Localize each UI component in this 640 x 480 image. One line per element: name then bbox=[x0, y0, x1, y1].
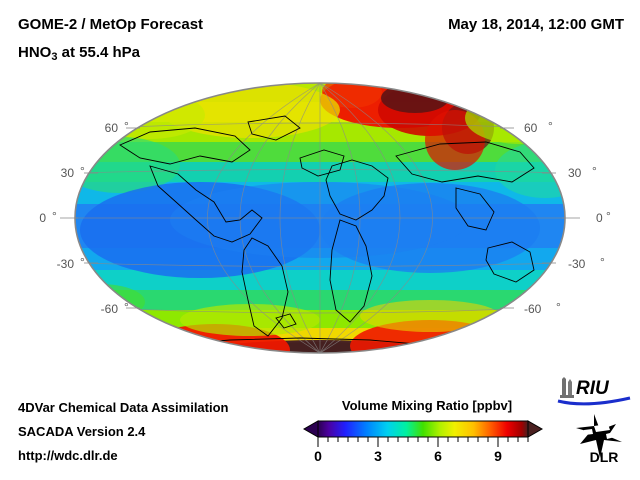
lat-degsym-10: ° bbox=[556, 300, 561, 314]
lat-label-0-r: 0 bbox=[596, 211, 603, 225]
colorbar-gradient bbox=[318, 421, 528, 437]
map-plot: 60 ° 30 ° 0 ° -30 ° -60 ° 60 ° 30 ° 0 ° … bbox=[0, 70, 640, 380]
lat-label-60s-r: -60 bbox=[524, 302, 542, 316]
visualization-page: GOME-2 / MetOp Forecast HNO3 at 55.4 hPa… bbox=[0, 0, 640, 480]
lat-degsym-1: ° bbox=[124, 119, 129, 133]
lat-degsym-3: ° bbox=[52, 209, 57, 223]
colorbar-extend-min bbox=[304, 421, 318, 437]
lat-label-30s-r: -30 bbox=[568, 257, 586, 271]
footer-line-assimilation: 4DVar Chemical Data Assimilation bbox=[18, 400, 229, 415]
colorbar-tick-labels: 0 3 6 9 bbox=[314, 448, 502, 464]
mollweide-map-svg: 60 ° 30 ° 0 ° -30 ° -60 ° 60 ° 30 ° 0 ° … bbox=[0, 70, 640, 380]
colorbar-ticks bbox=[318, 437, 528, 447]
riu-logo-text: RIU bbox=[576, 378, 610, 399]
colorbar-tick-0: 0 bbox=[314, 448, 322, 464]
lat-degsym-7: ° bbox=[592, 164, 597, 178]
colorbar-tick-3: 3 bbox=[374, 448, 382, 464]
date-stamp: May 18, 2014, 12:00 GMT bbox=[448, 16, 624, 33]
lat-degsym-2: ° bbox=[80, 164, 85, 178]
colorbar-tick-9: 9 bbox=[494, 448, 502, 464]
colorbar-tick-6: 6 bbox=[434, 448, 442, 464]
lat-degsym-4: ° bbox=[80, 255, 85, 269]
lat-degsym-8: ° bbox=[606, 209, 611, 223]
lat-label-60s: -60 bbox=[101, 302, 119, 316]
colorbar-svg: 0 3 6 9 bbox=[300, 416, 550, 466]
colorbar: 0 3 6 9 bbox=[300, 416, 550, 466]
footer-line-url[interactable]: http://wdc.dlr.de bbox=[18, 448, 118, 463]
footer-line-version: SACADA Version 2.4 bbox=[18, 424, 145, 439]
logo-group: RIU DLR bbox=[548, 374, 640, 466]
riu-logo: RIU bbox=[558, 377, 630, 404]
species-subtitle: HNO3 at 55.4 hPa bbox=[18, 44, 140, 63]
colorbar-extend-max bbox=[528, 421, 542, 437]
lat-label-30n: 30 bbox=[61, 166, 75, 180]
lat-label-30n-r: 30 bbox=[568, 166, 582, 180]
logos-svg: RIU DLR bbox=[548, 374, 640, 466]
dlr-logo: DLR bbox=[576, 414, 622, 465]
dlr-logo-text: DLR bbox=[590, 449, 619, 465]
lat-degsym-9: ° bbox=[600, 255, 605, 269]
lat-label-0: 0 bbox=[39, 211, 46, 225]
lat-label-60n: 60 bbox=[105, 121, 119, 135]
lat-label-60n-r: 60 bbox=[524, 121, 538, 135]
map-data-field bbox=[55, 72, 595, 380]
species-name: HNO bbox=[18, 44, 51, 61]
colorbar-title: Volume Mixing Ratio [ppbv] bbox=[322, 398, 532, 413]
lat-degsym-6: ° bbox=[548, 119, 553, 133]
lat-degsym-5: ° bbox=[124, 300, 129, 314]
page-title: GOME-2 / MetOp Forecast bbox=[18, 16, 203, 33]
lat-label-30s: -30 bbox=[57, 257, 75, 271]
species-level: at 55.4 hPa bbox=[57, 44, 140, 61]
